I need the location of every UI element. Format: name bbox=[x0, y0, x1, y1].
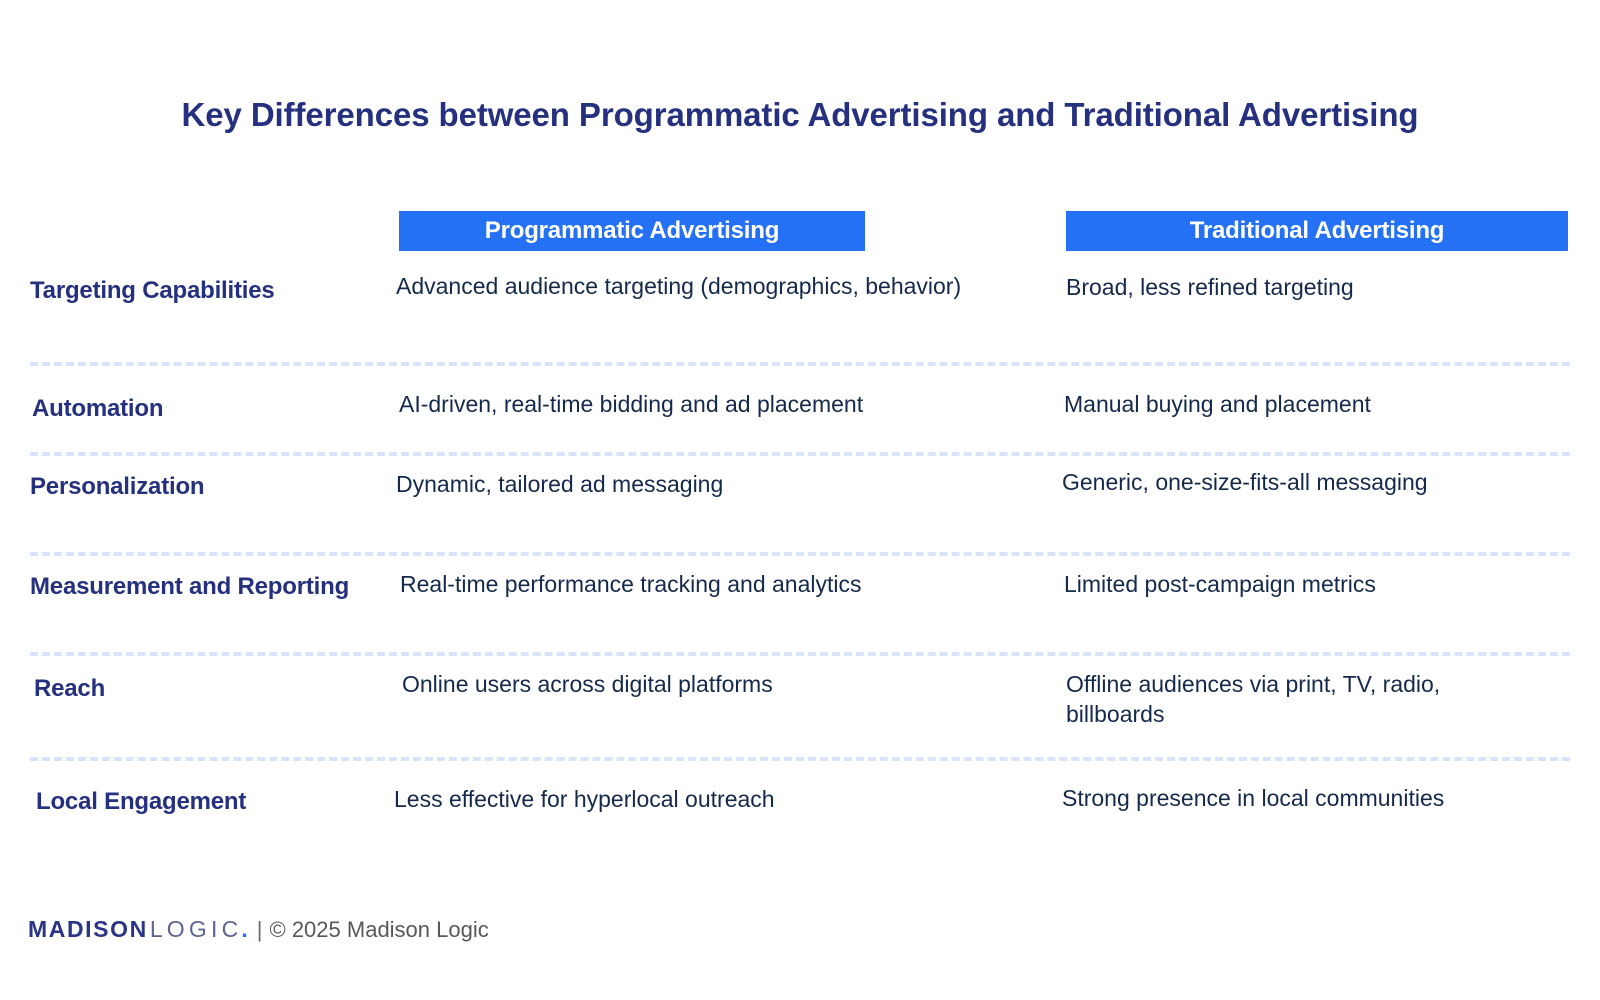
row-cell-traditional: Manual buying and placement bbox=[1064, 390, 1544, 420]
column-header-programmatic: Programmatic Advertising bbox=[399, 211, 865, 251]
table-row: Automation AI-driven, real-time bidding … bbox=[0, 362, 1600, 452]
comparison-table: Targeting Capabilities Advanced audience… bbox=[0, 262, 1600, 857]
row-cell-traditional: Broad, less refined targeting bbox=[1066, 273, 1546, 303]
row-cell-traditional: Generic, one-size-fits-all messaging bbox=[1062, 468, 1562, 498]
table-row: Measurement and Reporting Real-time perf… bbox=[0, 552, 1600, 652]
row-label: Automation bbox=[32, 392, 372, 426]
brand-logo-dot: . bbox=[241, 916, 247, 943]
footer: MADISON LOGIC . | © 2025 Madison Logic bbox=[28, 916, 489, 943]
row-label: Targeting Capabilities bbox=[30, 274, 370, 308]
row-label: Local Engagement bbox=[36, 785, 376, 819]
row-cell-traditional: Limited post-campaign metrics bbox=[1064, 570, 1564, 600]
row-label: Reach bbox=[34, 672, 374, 706]
table-row: Local Engagement Less effective for hype… bbox=[0, 757, 1600, 857]
table-row: Personalization Dynamic, tailored ad mes… bbox=[0, 452, 1600, 552]
row-cell-programmatic: AI-driven, real-time bidding and ad plac… bbox=[399, 390, 1019, 420]
row-cell-programmatic: Less effective for hyperlocal outreach bbox=[394, 785, 1014, 815]
table-row: Targeting Capabilities Advanced audience… bbox=[0, 262, 1600, 362]
footer-copyright: © 2025 Madison Logic bbox=[270, 917, 489, 943]
row-cell-programmatic: Online users across digital platforms bbox=[402, 670, 1022, 700]
row-cell-programmatic: Advanced audience targeting (demographic… bbox=[396, 272, 996, 302]
row-cell-traditional: Strong presence in local communities bbox=[1062, 784, 1562, 814]
row-cell-programmatic: Real-time performance tracking and analy… bbox=[400, 570, 1020, 600]
brand-logo-logic: LOGIC bbox=[150, 916, 243, 943]
infographic-page: Key Differences between Programmatic Adv… bbox=[0, 0, 1600, 1000]
table-row: Reach Online users across digital platfo… bbox=[0, 652, 1600, 757]
page-title: Key Differences between Programmatic Adv… bbox=[160, 92, 1440, 139]
row-label: Measurement and Reporting bbox=[30, 570, 370, 604]
row-cell-traditional: Offline audiences via print, TV, radio, … bbox=[1066, 670, 1536, 730]
row-cell-programmatic: Dynamic, tailored ad messaging bbox=[396, 470, 1016, 500]
footer-separator: | bbox=[257, 917, 263, 943]
column-header-traditional: Traditional Advertising bbox=[1066, 211, 1568, 251]
brand-logo-madison: MADISON bbox=[28, 916, 148, 943]
row-label: Personalization bbox=[30, 470, 370, 504]
